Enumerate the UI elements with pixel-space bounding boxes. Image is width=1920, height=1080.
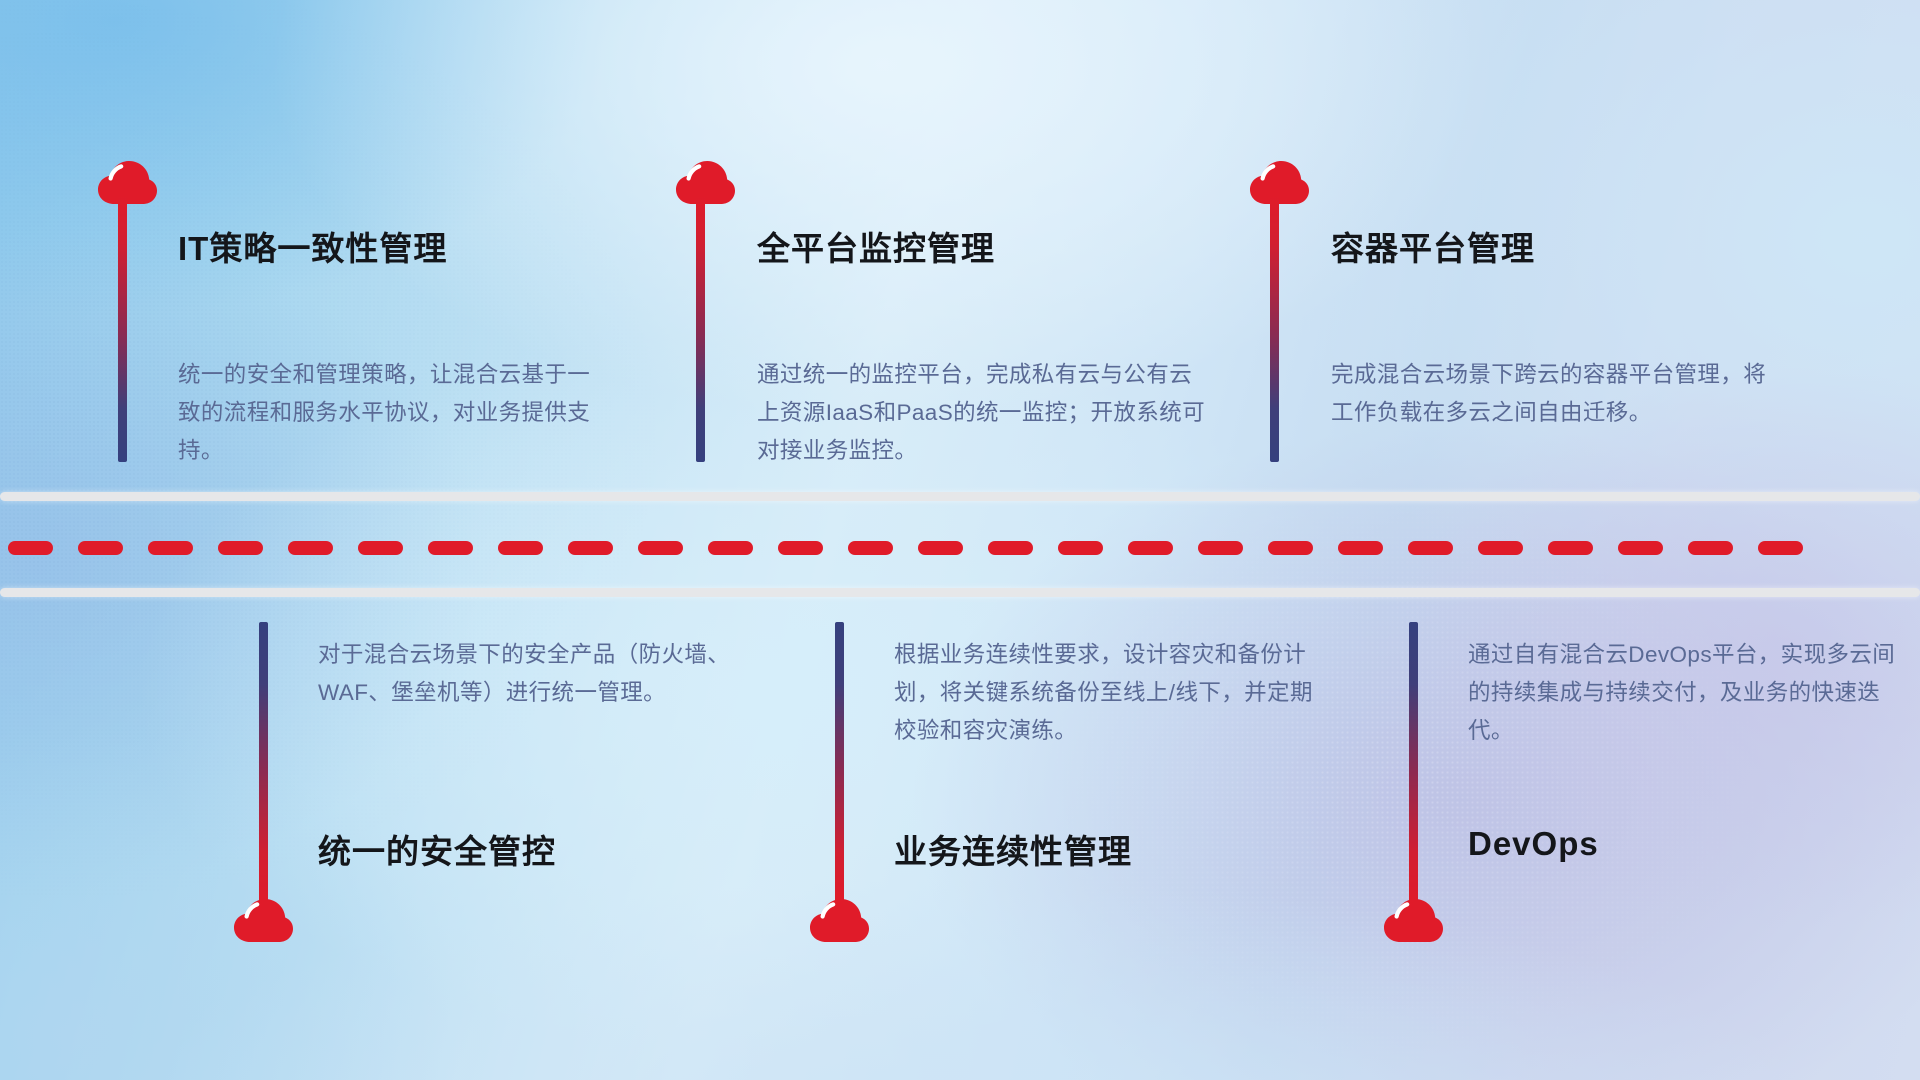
divider-dash (1198, 541, 1243, 555)
divider-dash (1268, 541, 1313, 555)
divider-dash (218, 541, 263, 555)
card-body-text: 完成混合云场景下跨云的容器平台管理，将工作负载在多云之间自由迁移。 (1331, 356, 1781, 432)
cloud-icon (1248, 158, 1310, 206)
divider-dash (148, 541, 193, 555)
card-body-text: 根据业务连续性要求，设计容灾和备份计划，将关键系统备份至线上/线下，并定期校验和… (894, 636, 1324, 750)
cloud-icon (1382, 896, 1444, 944)
divider-dash (1128, 541, 1173, 555)
connector-stem (259, 622, 268, 904)
divider-dash (1618, 541, 1663, 555)
divider-dashed-line (0, 541, 1920, 555)
divider-dash (428, 541, 473, 555)
divider-dash (358, 541, 403, 555)
divider-rule-top (0, 492, 1920, 501)
cloud-icon (232, 896, 294, 944)
connector-stem (696, 196, 705, 462)
card-body-text: 通过统一的监控平台，完成私有云与公有云上资源IaaS和PaaS的统一监控；开放系… (757, 356, 1207, 470)
divider-dash (1338, 541, 1383, 555)
cloud-icon (808, 896, 870, 944)
divider-dash (918, 541, 963, 555)
divider-dash (78, 541, 123, 555)
card-heading: 统一的安全管控 (318, 825, 556, 873)
infographic-canvas: IT策略一致性管理 统一的安全和管理策略，让混合云基于一致的流程和服务水平协议，… (0, 0, 1920, 1080)
connector-stem (835, 622, 844, 904)
connector-stem (1409, 622, 1418, 904)
connector-stem (118, 196, 127, 462)
card-heading: 容器平台管理 (1331, 222, 1535, 270)
divider-dash (568, 541, 613, 555)
divider-dash (1478, 541, 1523, 555)
divider-dash (288, 541, 333, 555)
divider-dash (638, 541, 683, 555)
divider-dash (1408, 541, 1453, 555)
divider-rule-bottom (0, 588, 1920, 597)
card-body-text: 通过自有混合云DevOps平台，实现多云间的持续集成与持续交付，及业务的快速迭代… (1468, 636, 1898, 750)
divider-dash (1058, 541, 1103, 555)
divider-dash (708, 541, 753, 555)
connector-stem (1270, 196, 1279, 462)
card-heading: DevOps (1468, 825, 1599, 863)
cloud-icon (96, 158, 158, 206)
divider-dash (498, 541, 543, 555)
divider-dash (778, 541, 823, 555)
divider-dash (1548, 541, 1593, 555)
divider-dash (1688, 541, 1733, 555)
card-body-text: 对于混合云场景下的安全产品（防火墙、WAF、堡垒机等）进行统一管理。 (318, 636, 748, 712)
card-heading: IT策略一致性管理 (178, 222, 447, 270)
divider-dash (848, 541, 893, 555)
divider-dash (8, 541, 53, 555)
card-body-text: 统一的安全和管理策略，让混合云基于一致的流程和服务水平协议，对业务提供支持。 (178, 356, 608, 470)
cloud-icon (674, 158, 736, 206)
divider-dash (1758, 541, 1803, 555)
divider-dash (988, 541, 1033, 555)
card-heading: 业务连续性管理 (894, 825, 1132, 873)
card-heading: 全平台监控管理 (757, 222, 995, 270)
